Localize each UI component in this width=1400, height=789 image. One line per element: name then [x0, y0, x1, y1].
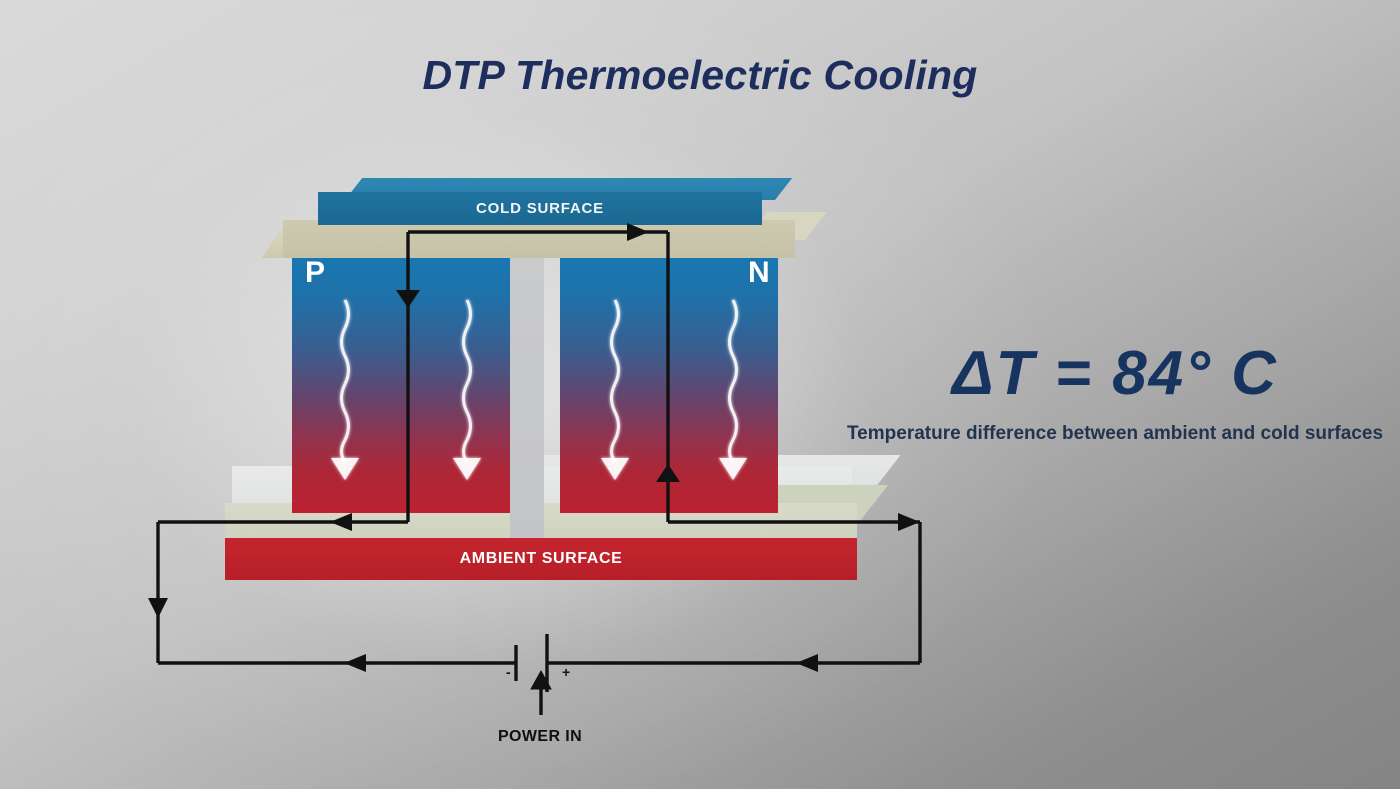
device-assembly: AMBIENT SURFACE P N COLD SURFACE [0, 0, 1400, 789]
thermoelectric-cooling-diagram: DTP Thermoelectric Cooling ΔT = 84° C Te… [0, 0, 1400, 789]
battery-negative-terminal: - [506, 664, 511, 680]
power-in-label: POWER IN [440, 728, 640, 746]
electrical-circuit [0, 0, 1400, 789]
battery-positive-terminal: + [562, 664, 570, 680]
